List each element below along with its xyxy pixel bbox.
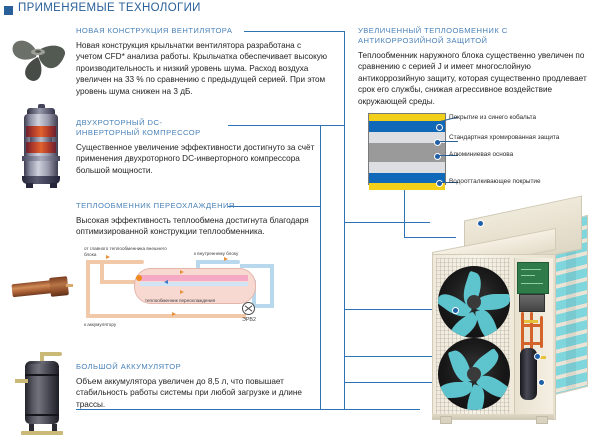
page-title: ПРИМЕНЯЕМЫЕ ТЕХНОЛОГИИ (18, 2, 201, 14)
flow-arrow-4 (172, 312, 176, 316)
unit-leg-right (536, 416, 548, 424)
schematic-label-vessel: теплообменник переохлаждения (120, 298, 240, 304)
technology-infographic: ПРИМЕНЯЕМЫЕ ТЕХНОЛОГИИ НОВАЯ КОНСТРУКЦИЯ… (0, 0, 600, 446)
unit-electrical-box (519, 294, 545, 312)
subcooling-schematic: от главного теплообменника внешнего блок… (76, 246, 324, 338)
unit-refrigerant-pipe-5 (540, 316, 543, 348)
section-body-compressor: Существенное увеличение эффективности до… (76, 142, 326, 176)
expansion-valve-icon (242, 302, 255, 315)
tube-bottom (86, 314, 246, 318)
tube-left-down (86, 260, 90, 318)
coating-layer-yellow-outer-bottom (369, 183, 445, 190)
section-body-subcooler: Высокая эффективность теплообмена достиг… (76, 215, 326, 238)
tube-right-top (240, 264, 274, 268)
unit-refrigerant-pipe-2 (530, 312, 533, 352)
section-heading-coil: УВЕЛИЧЕННЫЙ ТЕПЛООБМЕННИК С АНТИКОРРОЗИЙ… (358, 26, 594, 46)
fan-blade-icon (8, 24, 70, 86)
section-heading-subcooler: ТЕПЛООБМЕННИК ПЕРЕОХЛАЖДЕНИЯ (76, 201, 236, 211)
schematic-label-to-indoor: к внутреннему блоку (194, 251, 272, 257)
section-body-fan: Новая конструкция крыльчатки вентилятора… (76, 40, 328, 97)
connector-coating-vert (404, 186, 405, 238)
unit-callout-dot-compressor (538, 379, 545, 386)
schematic-label-valve: ЭРВ2 (236, 318, 262, 324)
connector-fan-vert (344, 31, 345, 409)
copper-pipe-icon (10, 268, 72, 308)
flow-arrow-3 (106, 255, 110, 259)
flow-arrow-1 (180, 270, 184, 274)
section-body-accumulator: Объем аккумулятора увеличен до 8,5 л, чт… (76, 376, 320, 410)
callout-label-chrome: Стандартная хромированная защита (449, 134, 561, 142)
unit-callout-dot-fan (452, 307, 459, 314)
flow-arrow-cold (164, 280, 168, 284)
connector-comp-horiz (320, 409, 420, 410)
flow-arrow-5 (224, 257, 228, 261)
rule-comp-heading (228, 125, 344, 126)
compressor-icon (14, 106, 70, 188)
accumulator-icon (14, 352, 76, 438)
vessel-inlet-dot (136, 275, 142, 281)
unit-callout-dot-subcooler (534, 353, 541, 360)
coating-layer-yellow-outer-top (369, 114, 445, 121)
rule-sub-heading (228, 206, 320, 207)
tube-top-right (196, 260, 240, 264)
unit-fan-lower (438, 338, 510, 410)
vessel-cold-layer (140, 282, 248, 286)
rule-fan-heading (244, 31, 344, 32)
schematic-label-from-main-hx: от главного теплообменника внешнего блок… (84, 246, 172, 257)
coating-layer-stack (368, 113, 446, 185)
unit-fan-upper (438, 266, 510, 338)
title-bullet-icon (4, 6, 13, 15)
section-heading-fan: НОВАЯ КОНСТРУКЦИЯ ВЕНТИЛЯТОРА (76, 26, 248, 36)
section-heading-compressor: ДВУХРОТОРНЫЙ DC-ИНВЕРТОРНЫЙ КОМПРЕССОР (76, 118, 226, 138)
callout-label-alu: Алюминиевая основа (449, 151, 589, 159)
coating-layer-aluminium-core (369, 143, 445, 162)
coating-layer-blue-cobalt-bottom (369, 173, 445, 183)
tube-left-branch (100, 260, 104, 282)
tube-top-left (86, 260, 144, 264)
section-body-coil: Теплообменник наружного блока существенн… (358, 50, 596, 107)
outdoor-unit-illustration (418, 196, 596, 446)
coating-layer-blue-cobalt-top (369, 121, 445, 132)
unit-control-board (517, 262, 549, 294)
schematic-label-to-accumulator: к аккумулятору (84, 322, 154, 328)
unit-leg-left (440, 416, 452, 424)
section-heading-accumulator: БОЛЬШОЙ АККУМУЛЯТОР (76, 362, 236, 372)
callout-label-water: Водоотталкивающее покрытие (449, 178, 599, 186)
callout-label-cobalt: Покрытие из синего кобальта (449, 114, 589, 122)
flow-arrow-2 (180, 290, 184, 294)
unit-insulation-1 (524, 320, 538, 323)
coating-layer-chrome-light-bottom (369, 162, 445, 173)
callout-dot-cobalt (436, 124, 443, 131)
tube-right-riser (270, 264, 274, 308)
unit-callout-dot-coil (477, 220, 484, 227)
vessel-hot-layer (140, 275, 248, 281)
